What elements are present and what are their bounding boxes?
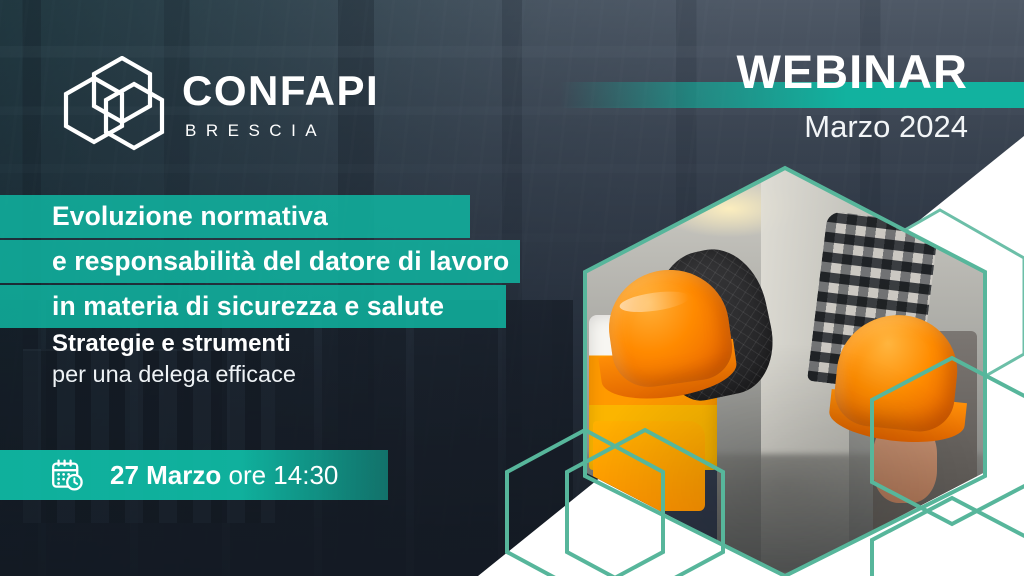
hexagon-outline-group: [0, 0, 1024, 576]
webinar-poster: CONFAPI BRESCIA WEBINAR Marzo 2024 Evolu…: [0, 0, 1024, 576]
decorative-hexagon-bottom-far: [872, 498, 1024, 576]
decorative-hexagon-bottom-left: [567, 430, 723, 576]
